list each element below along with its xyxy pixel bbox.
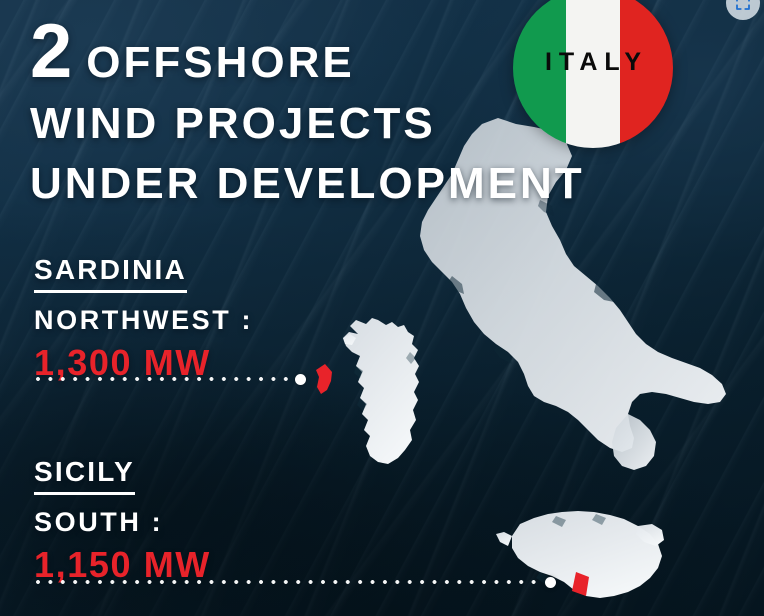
headline-line-1: 2 OFFSHORE <box>30 22 730 85</box>
leader-endpoint-dot <box>295 374 306 385</box>
leader-line-sicily <box>36 577 556 587</box>
project-region-name: SICILY <box>34 458 135 495</box>
project-area-label: NORTHWEST : <box>34 307 253 334</box>
wind-site-marker-sardinia <box>312 363 338 397</box>
project-block-sardinia: SARDINIA NORTHWEST : 1,300 MW <box>34 256 253 381</box>
leader-dots <box>36 580 543 584</box>
headline-line-2: WIND PROJECTS <box>30 102 730 146</box>
leader-dots <box>36 377 293 381</box>
expand-icon <box>734 0 752 12</box>
leader-line-sardinia <box>36 374 306 384</box>
headline-line-3: UNDER DEVELOPMENT <box>30 162 730 206</box>
headline-block: 2 OFFSHORE WIND PROJECTS UNDER DEVELOPME… <box>30 22 730 206</box>
wind-site-marker-sicily <box>566 570 596 604</box>
project-area-label: SOUTH : <box>34 509 211 536</box>
project-region-name: SARDINIA <box>34 256 187 293</box>
project-count: 2 <box>30 22 72 81</box>
sardinia-island <box>343 318 419 464</box>
infographic-canvas: ITALY 2 OFFSHORE WIND PROJECTS UNDER DEV… <box>0 0 764 616</box>
leader-endpoint-dot <box>545 577 556 588</box>
headline-line-1-text: OFFSHORE <box>86 41 354 85</box>
project-block-sicily: SICILY SOUTH : 1,150 MW <box>34 458 211 583</box>
